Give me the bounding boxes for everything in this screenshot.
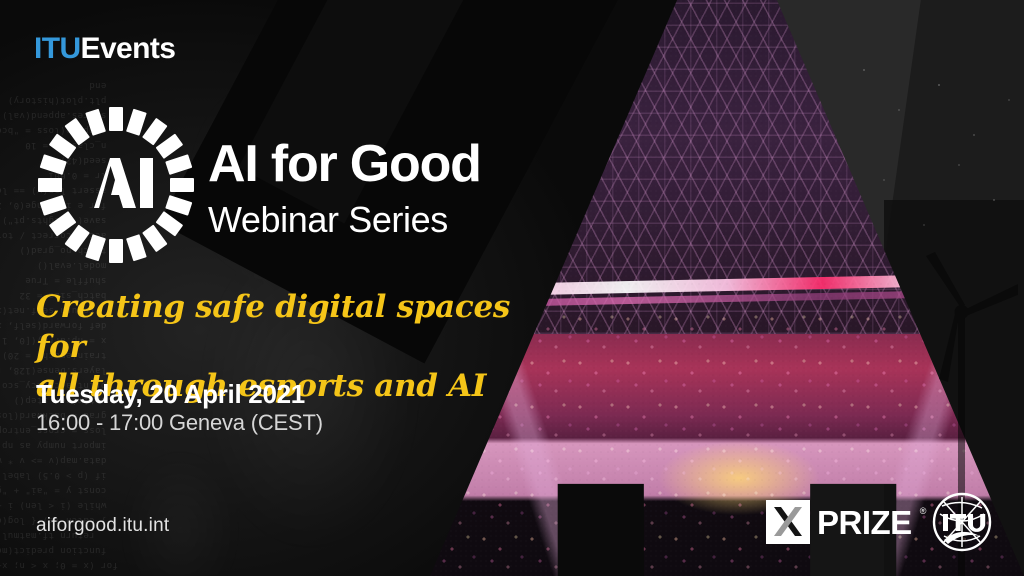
xprize-x-icon <box>766 500 810 544</box>
itu-events-logo-itu: ITU <box>34 32 81 65</box>
itu-logo[interactable] <box>932 492 992 552</box>
xprize-logo[interactable]: PRIZE ® <box>766 500 926 544</box>
event-date: Tuesday, 20 April 2021 <box>36 379 305 410</box>
itu-events-logo: ITUEvents <box>34 34 175 64</box>
ai-for-good-logo <box>36 105 196 265</box>
event-headline-line-1: Creating safe digital spaces for <box>36 288 536 367</box>
ai-logo-monogram <box>94 158 153 208</box>
event-url[interactable]: aiforgood.itu.int <box>36 515 169 537</box>
itu-logo-svg <box>932 492 992 552</box>
ai-logo-svg <box>36 105 196 265</box>
brand-title-block: AI for Good Webinar Series <box>208 138 481 238</box>
page-title: AI for Good <box>208 138 481 190</box>
page-subtitle: Webinar Series <box>208 202 481 238</box>
poster-canvas: for (x = 0; x < n; x++) { function predi… <box>0 0 1024 576</box>
itu-events-logo-events: Events <box>81 32 176 65</box>
xprize-registered-mark: ® <box>920 506 927 516</box>
xprize-wordmark: PRIZE <box>817 506 912 539</box>
event-time: 16:00 - 17:00 Geneva (CEST) <box>36 410 323 436</box>
